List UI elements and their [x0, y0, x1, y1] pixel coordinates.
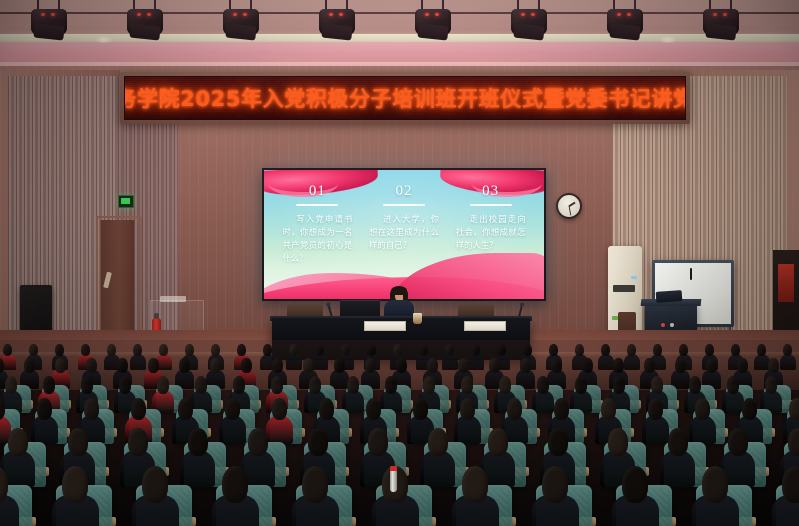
- audience-person-head: [689, 376, 701, 394]
- audience-person-head: [737, 358, 747, 373]
- audience-person-head: [385, 376, 397, 394]
- audience-person-head: [43, 376, 55, 394]
- audience-person-head: [210, 358, 220, 373]
- audience-person-head: [157, 376, 169, 394]
- ceiling-downlight: [660, 36, 676, 43]
- audience-person-head: [188, 428, 208, 456]
- audience-person-head: [461, 376, 473, 394]
- audience-person-head: [37, 398, 52, 420]
- audience-person-head: [458, 358, 468, 373]
- slide-column-number: 01: [278, 184, 356, 199]
- audience-person-head: [695, 398, 710, 420]
- audience-person-head: [728, 428, 748, 456]
- slide-column-question: 走出校园走向社会，你想成就怎样的人生？: [452, 213, 530, 252]
- audience-person-head: [233, 376, 245, 394]
- audience-person-head: [222, 466, 248, 503]
- audience-person-head: [548, 428, 568, 456]
- audience-person-head: [499, 376, 511, 394]
- water-bottle: [390, 470, 397, 492]
- audience-person-head: [117, 358, 127, 373]
- audience-person-head: [582, 358, 592, 373]
- exit-sign-icon: [118, 195, 134, 208]
- podium-monitor: [656, 290, 683, 303]
- audience-person-head: [272, 358, 282, 373]
- ceiling-downlight: [96, 36, 112, 43]
- led-banner-frame: 乘务学院2025年入党积极分子培训班开班仪式暨党委书记讲党课: [120, 72, 690, 124]
- audience-person-head: [489, 358, 499, 373]
- audience-person-head: [788, 428, 799, 456]
- stage-light-icon: [700, 0, 742, 40]
- stage-light-icon: [412, 0, 454, 40]
- audience-person-head: [128, 428, 148, 456]
- audience-person-body: [286, 354, 302, 371]
- projection-screen-bezel: 01写入党申请书时，你想成为一名共产党员的初心是什么？02进入大学，你想在这里成…: [262, 168, 546, 301]
- drinking-cup: [413, 313, 422, 324]
- wall-plate: [160, 296, 186, 302]
- audience-person-body: [468, 354, 484, 371]
- slide-column-rule: [470, 204, 512, 206]
- audience-person-head: [62, 466, 88, 503]
- audience-person-body: [598, 354, 614, 371]
- slide-column-question: 写入党申请书时，你想成为一名共产党员的初心是什么？: [278, 213, 356, 265]
- air-conditioner-vent: [613, 285, 635, 292]
- name-placard: [364, 321, 406, 331]
- audience-person-head: [613, 376, 625, 394]
- audience-person-head: [319, 398, 334, 420]
- slide-column-01: 01写入党申请书时，你想成为一名共产党员的初心是什么？: [278, 184, 356, 299]
- audience-person-head: [622, 466, 648, 503]
- stage-light-icon: [220, 0, 262, 40]
- stage-light-icon: [604, 0, 646, 40]
- podium-control-button[interactable]: [670, 323, 674, 327]
- led-banner-text: 乘务学院2025年入党积极分子培训班开班仪式暨党委书记讲党课: [124, 83, 686, 113]
- audience-person-head: [309, 376, 321, 394]
- audience-person-head: [119, 376, 131, 394]
- auditorium-scene: 乘务学院2025年入党积极分子培训班开班仪式暨党委书记讲党课 01写入党申请书时…: [0, 0, 799, 526]
- air-conditioner-display: [631, 276, 637, 279]
- audience-person-body: [130, 354, 146, 371]
- audience-person-head: [225, 398, 240, 420]
- led-banner: 乘务学院2025年入党积极分子培训班开班仪式暨党委书记讲党课: [124, 76, 686, 120]
- audience-person-head: [368, 428, 388, 456]
- audience-person-head: [428, 428, 448, 456]
- audience-person-head: [24, 358, 34, 373]
- audience-person-head: [668, 428, 688, 456]
- lighting-truss: [0, 12, 799, 14]
- audience-person-head: [396, 358, 406, 373]
- audience-person-body: [442, 354, 458, 371]
- audience-person-head: [427, 358, 437, 373]
- audience-person-head: [68, 428, 88, 456]
- stage-light-icon: [124, 0, 166, 40]
- audience-person-head: [462, 466, 488, 503]
- audience-person-head: [81, 376, 93, 394]
- audience-person-head: [84, 398, 99, 420]
- audience-area: [0, 340, 799, 526]
- audience-person-head: [131, 398, 146, 420]
- audience-person-head: [8, 428, 28, 456]
- audience-person-head: [241, 358, 251, 373]
- audience-person-head: [413, 398, 428, 420]
- audience-person-head: [537, 376, 549, 394]
- audience-person-head: [520, 358, 530, 373]
- audience-person-head: [302, 466, 328, 503]
- audience-person-body: [624, 354, 640, 371]
- audience-person-head: [782, 466, 799, 503]
- audience-person-head: [551, 358, 561, 373]
- slide-column-question: 进入大学，你想在这里成为什么样的自己？: [365, 213, 443, 252]
- audience-person-head: [366, 398, 381, 420]
- wall-clock-icon: [556, 193, 582, 219]
- audience-person-head: [488, 428, 508, 456]
- audience-person-head: [644, 358, 654, 373]
- audience-person-head: [272, 398, 287, 420]
- audience-person-head: [142, 466, 168, 503]
- audience-person-head: [178, 398, 193, 420]
- slide-column-rule: [296, 204, 338, 206]
- audience-person-head: [86, 358, 96, 373]
- audience-person-head: [768, 358, 778, 373]
- audience-person-head: [308, 428, 328, 456]
- audience-person-head: [542, 466, 568, 503]
- slide-column-03: 03走出校园走向社会，你想成就怎样的人生？: [452, 184, 530, 299]
- audience-person-head: [423, 376, 435, 394]
- stage-light-icon: [28, 0, 70, 40]
- audience-person-head: [271, 376, 283, 394]
- name-placard: [464, 321, 506, 331]
- audience-person-body: [780, 354, 796, 371]
- podium-power-button[interactable]: [661, 323, 665, 327]
- audience-person-head: [148, 358, 158, 373]
- audience-person-head: [648, 398, 663, 420]
- audience-person-head: [5, 376, 17, 394]
- slide-column-02: 02进入大学，你想在这里成为什么样的自己？: [365, 184, 443, 299]
- audience-person-head: [651, 376, 663, 394]
- audience-person-head: [248, 428, 268, 456]
- audience-person-head: [365, 358, 375, 373]
- slide-column-number: 03: [452, 184, 530, 199]
- door-handle[interactable]: [103, 272, 112, 289]
- audience-person-head: [334, 358, 344, 373]
- audience-person-head: [195, 376, 207, 394]
- audience-person-head: [608, 428, 628, 456]
- audience-person-head: [675, 358, 685, 373]
- audience-person-head: [789, 398, 799, 420]
- audience-person-head: [303, 358, 313, 373]
- audience-person-head: [702, 466, 728, 503]
- audience-person-head: [554, 398, 569, 420]
- audience-person-head: [601, 398, 616, 420]
- audience-person-head: [460, 398, 475, 420]
- audience-person-head: [55, 358, 65, 373]
- side-door[interactable]: [100, 220, 134, 345]
- whiteboard-marker[interactable]: [690, 268, 692, 280]
- wall-poster: [778, 264, 794, 302]
- projection-screen: 01写入党申请书时，你想成为一名共产党员的初心是什么？02进入大学，你想在这里成…: [264, 170, 544, 299]
- audience-person-head: [347, 376, 359, 394]
- audience-person-head: [613, 358, 623, 373]
- slide-column-rule: [383, 204, 425, 206]
- stage-light-icon: [508, 0, 550, 40]
- slide-columns: 01写入党申请书时，你想成为一名共产党员的初心是什么？02进入大学，你想在这里成…: [264, 184, 544, 299]
- audience-person-head: [727, 376, 739, 394]
- stage-light-icon: [316, 0, 358, 40]
- audience-person-head: [706, 358, 716, 373]
- audience-person-body: [312, 354, 328, 371]
- audience-person-head: [507, 398, 522, 420]
- slide-column-number: 02: [365, 184, 443, 199]
- audience-person-head: [575, 376, 587, 394]
- audience-person-head: [179, 358, 189, 373]
- audience-person-head: [765, 376, 777, 394]
- audience-person-head: [742, 398, 757, 420]
